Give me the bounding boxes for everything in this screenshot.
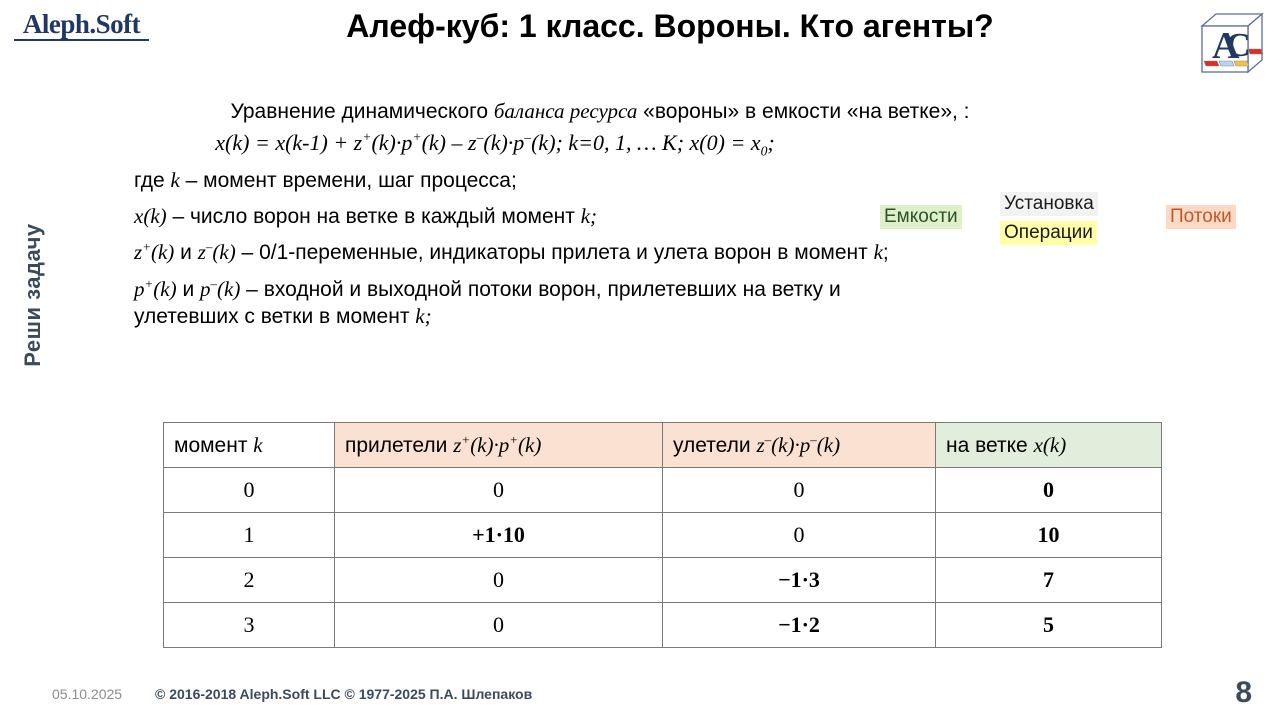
table-row: 2 0 −1·3 7 [164, 558, 1162, 603]
brand-logo-text: Aleph.Soft [14, 10, 149, 38]
cell-left: 0 [663, 513, 936, 558]
cell-arrived: 0 [335, 603, 663, 648]
table-row: 3 0 −1·2 5 [164, 603, 1162, 648]
cell-on-branch: 5 [936, 603, 1162, 648]
cell-moment: 3 [164, 603, 335, 648]
balance-table: момент k прилетели z+(k)·p+(k) улетели z… [163, 422, 1162, 648]
page-number: 8 [1235, 676, 1252, 710]
table-header-row: момент k прилетели z+(k)·p+(k) улетели z… [164, 423, 1162, 468]
cell-arrived: +1·10 [335, 513, 663, 558]
cell-on-branch: 10 [936, 513, 1162, 558]
footer-copyright: © 2016-2018 Aleph.Soft LLC © 1977-2025 П… [155, 686, 532, 702]
footer-date: 05.10.2025 [52, 686, 122, 702]
column-header-arrived: прилетели z+(k)·p+(k) [335, 423, 663, 468]
svg-text:C: C [1226, 27, 1251, 64]
table-row: 1 +1·10 0 10 [164, 513, 1162, 558]
cell-on-branch: 7 [936, 558, 1162, 603]
cell-left: 0 [663, 468, 936, 513]
column-header-left: улетели z–(k)·p–(k) [663, 423, 936, 468]
legend-chips: Емкости Установка Операции Потоки [872, 192, 1272, 258]
column-header-moment: момент k [164, 423, 335, 468]
aleph-cube-logo-icon: A C [1196, 6, 1268, 78]
definition-k: где k – момент времени, шаг процесса; [0, 167, 1280, 194]
cell-on-branch: 0 [936, 468, 1162, 513]
footer: 05.10.2025 © 2016-2018 Aleph.Soft LLC © … [0, 682, 1280, 712]
cell-moment: 2 [164, 558, 335, 603]
legend-chip-operations: Операции [1000, 221, 1097, 245]
cell-left: −1·3 [663, 558, 936, 603]
definition-p: p+(k) и p–(k) – входной и выходной поток… [0, 276, 1280, 331]
cell-moment: 0 [164, 468, 335, 513]
legend-chip-flows: Потоки [1166, 205, 1236, 229]
cell-arrived: 0 [335, 558, 663, 603]
table-row: 0 0 0 0 [164, 468, 1162, 513]
cell-left: −1·2 [663, 603, 936, 648]
legend-chip-capacities: Емкости [880, 205, 962, 229]
cell-moment: 1 [164, 513, 335, 558]
lead-sentence: Уравнение динамического баланса ресурса … [0, 98, 1280, 125]
lead-italic-phrase: баланса ресурса [494, 99, 637, 123]
brand-logo: Aleph.Soft [14, 10, 149, 41]
table-header: момент k прилетели z+(k)·p+(k) улетели z… [164, 423, 1162, 468]
legend-chip-setup: Установка [1000, 192, 1098, 216]
cell-arrived: 0 [335, 468, 663, 513]
page-title: Алеф-куб: 1 класс. Вороны. Кто агенты? [170, 8, 1170, 45]
table-body: 0 0 0 0 1 +1·10 0 10 2 0 −1·3 7 3 0 −1·2… [164, 468, 1162, 648]
balance-equation: x(k) = x(k-1) + z+(k)·p+(k) – z–(k)·p–(k… [0, 125, 1280, 158]
brand-logo-underline [14, 39, 149, 41]
column-header-on-branch: на ветке x(k) [936, 423, 1162, 468]
